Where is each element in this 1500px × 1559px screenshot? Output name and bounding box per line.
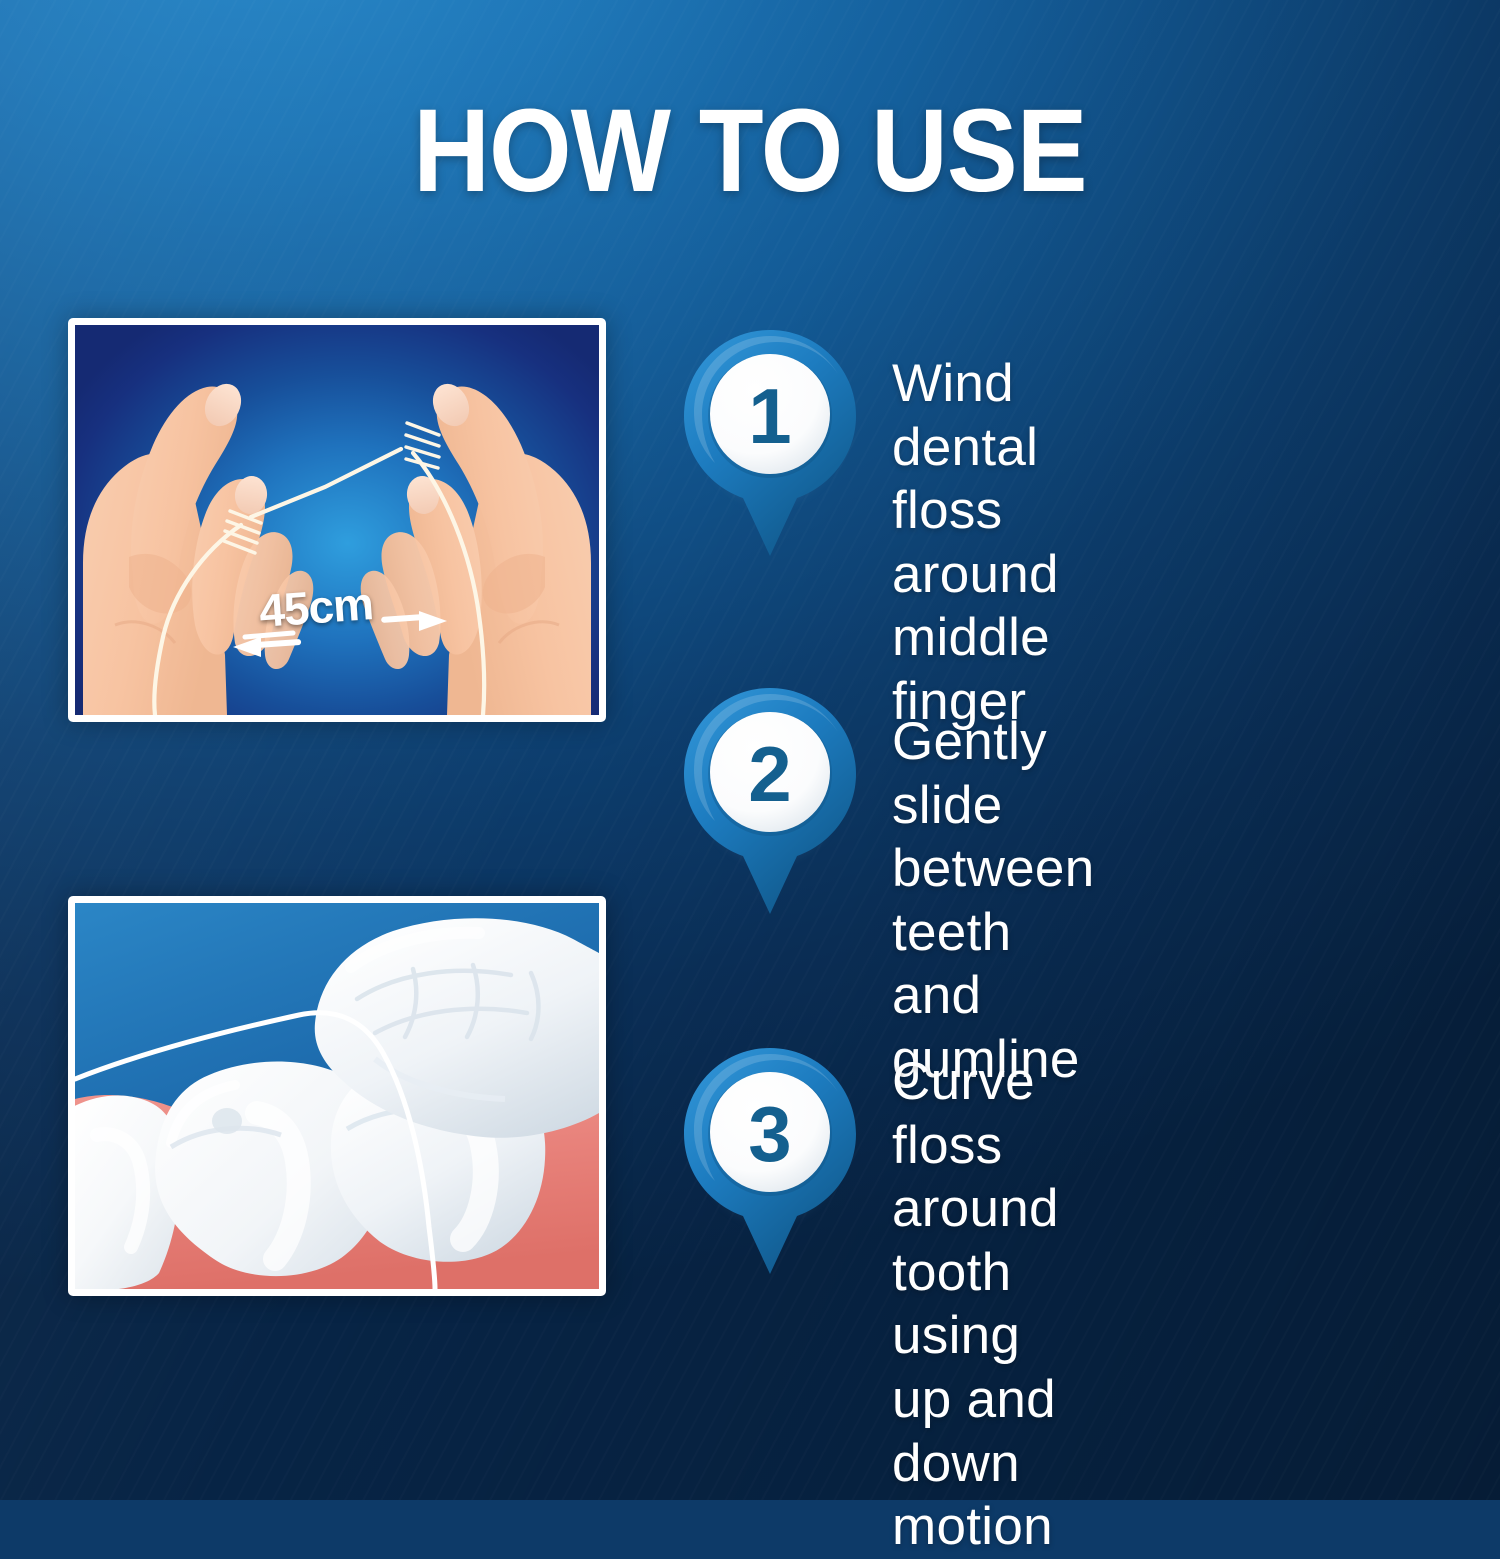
floss-wrap-right — [406, 423, 439, 468]
illustration-panel-hands — [68, 318, 606, 722]
step-text-1: Wind dental floss around middle finger — [892, 352, 1059, 734]
page-title: HOW TO USE — [75, 92, 1425, 210]
step-badge-3[interactable]: 3 — [670, 1036, 870, 1286]
step-number-2: 2 — [684, 688, 856, 860]
step-text-2: Gently slide between teeth and gumline — [892, 710, 1094, 1092]
step-badge-2[interactable]: 2 — [670, 676, 870, 926]
step-number-3: 3 — [684, 1048, 856, 1220]
step-badge-1[interactable]: 1 — [670, 318, 870, 568]
illustration-panel-teeth — [68, 896, 606, 1296]
step-text-3: Curve floss around tooth using up and do… — [892, 1050, 1059, 1559]
teeth-floss-illustration — [75, 903, 599, 1289]
panel-hands-inner — [75, 325, 599, 715]
left-hand — [83, 378, 313, 715]
panel-teeth-inner — [75, 903, 599, 1289]
step-number-1: 1 — [684, 330, 856, 502]
hands-floss-illustration — [75, 325, 599, 715]
right-hand — [361, 378, 591, 715]
